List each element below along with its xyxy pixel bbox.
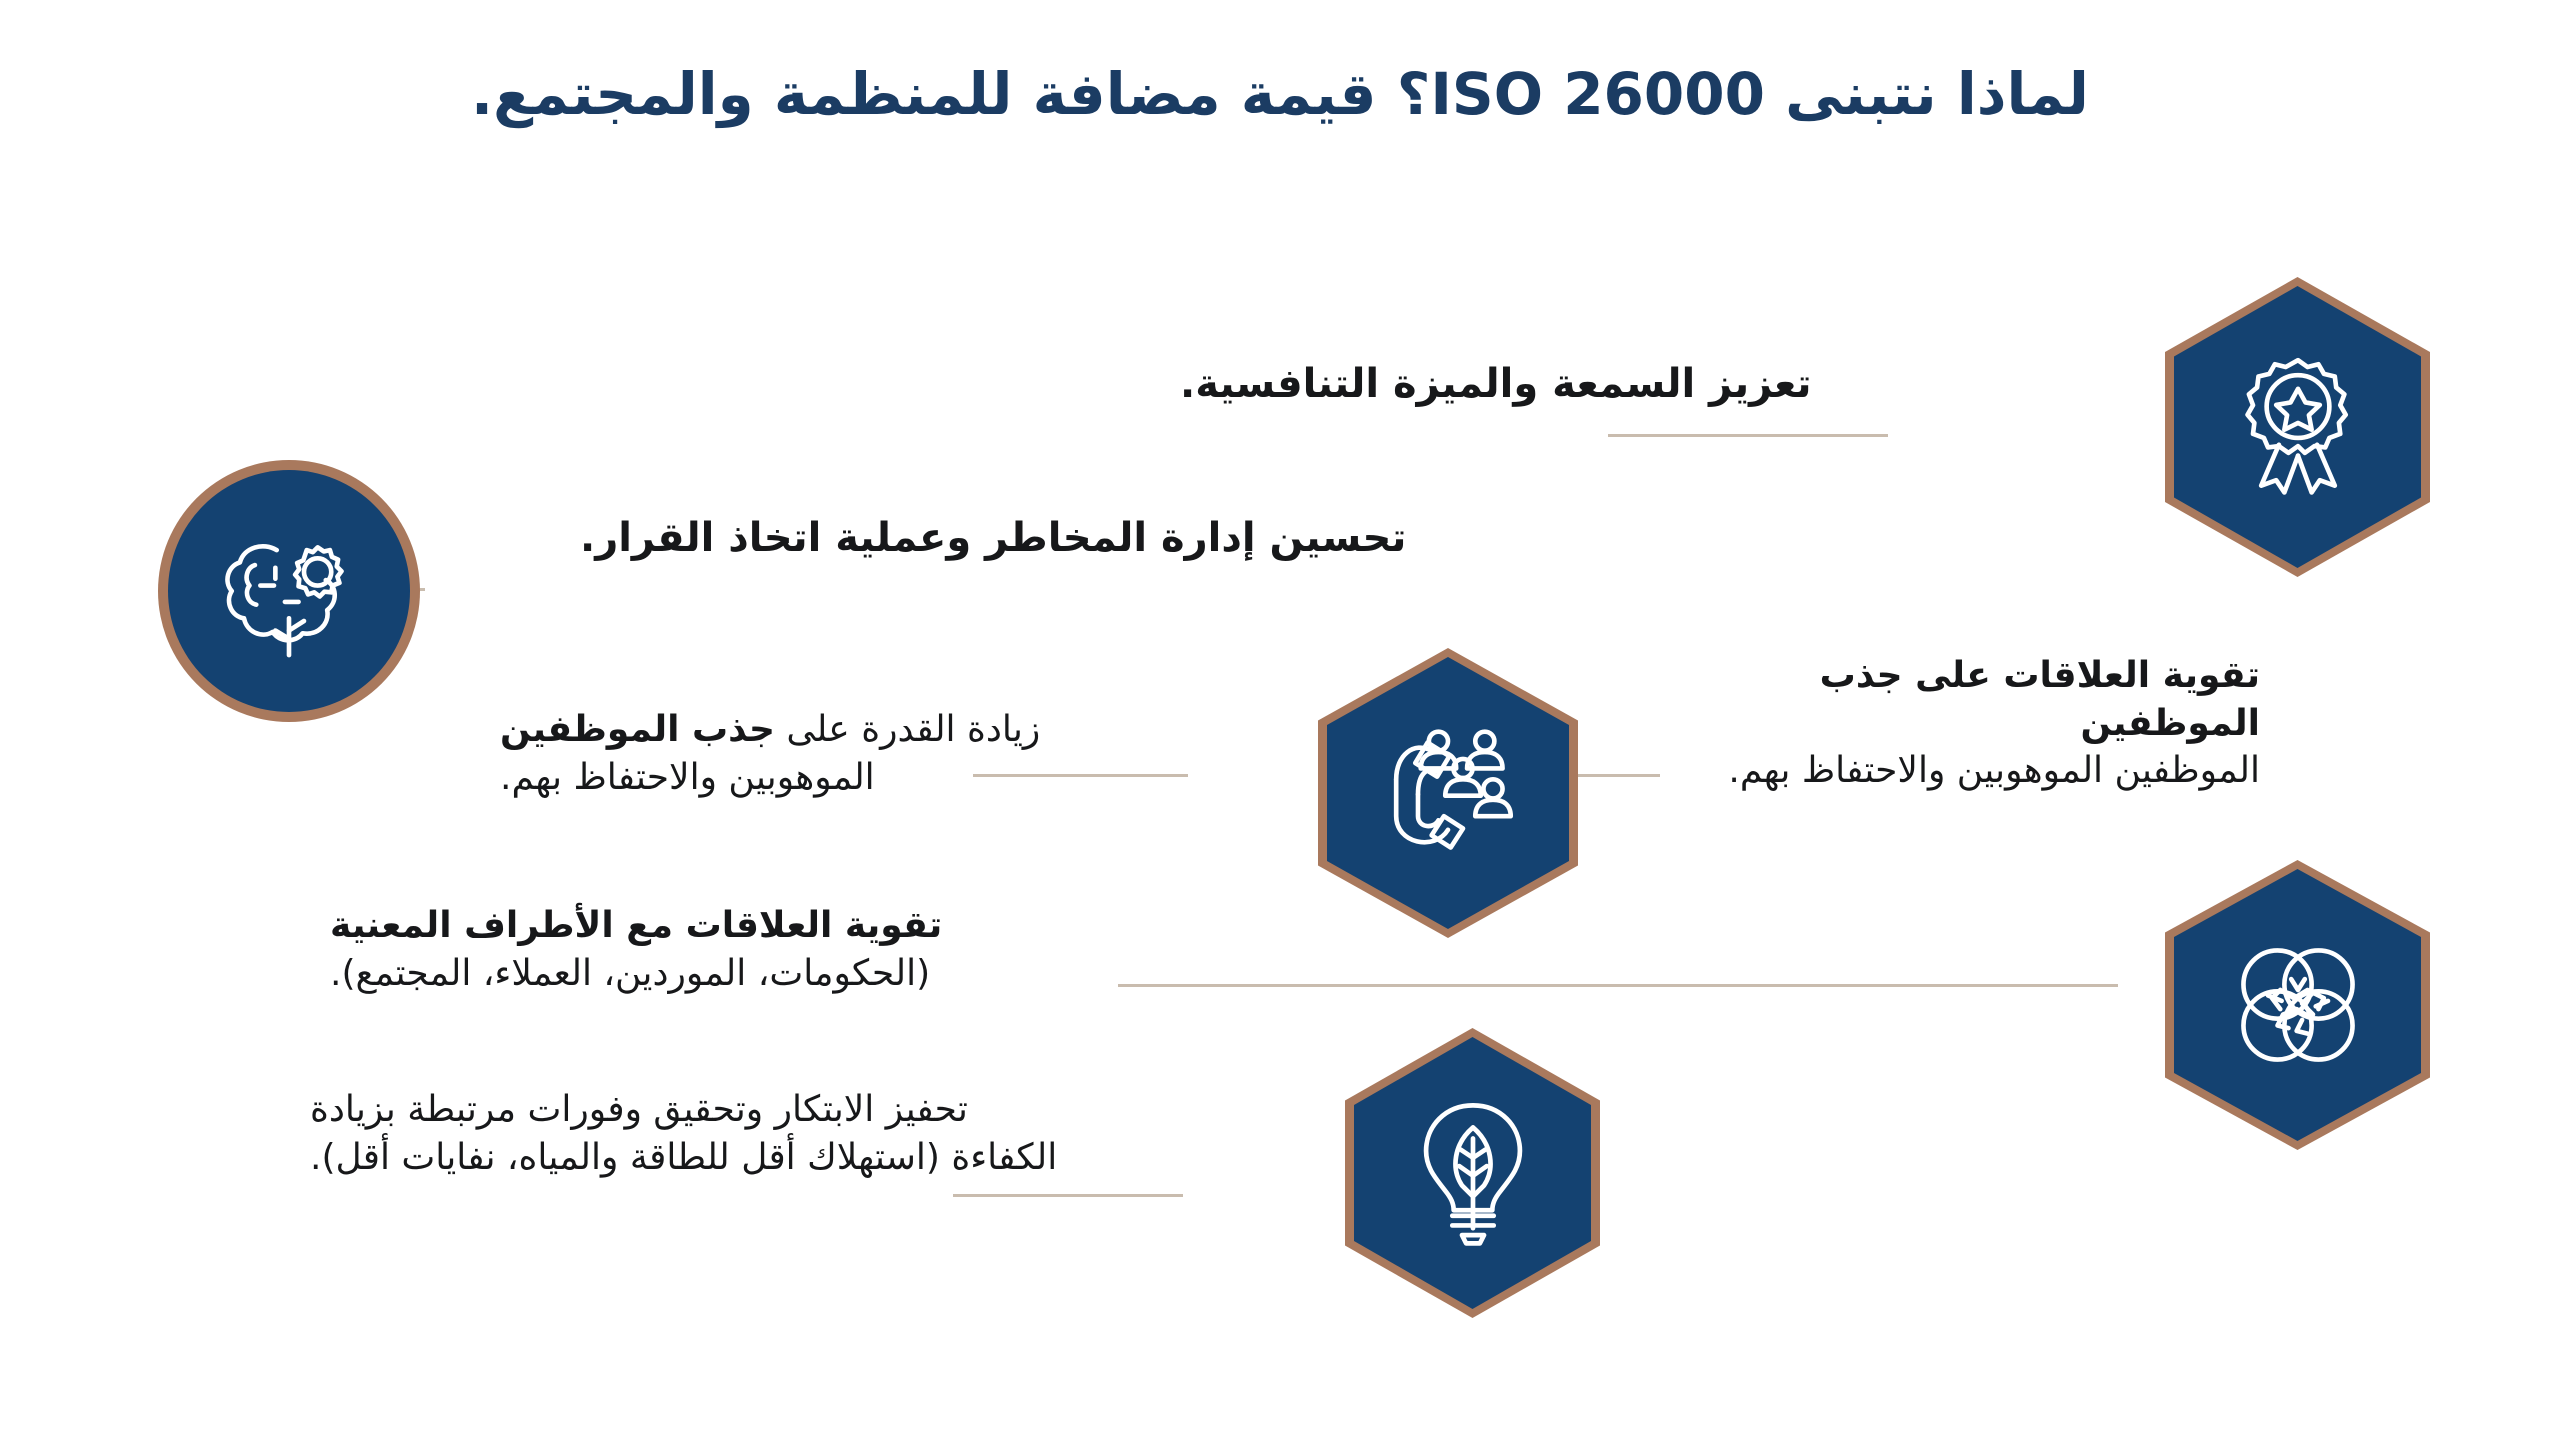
badge-award[interactable]	[2165, 277, 2430, 577]
callout-reputation-line1: تعزيز السمعة والميزة التنافسية.	[1180, 358, 1900, 411]
callout-stakeholders: تقوية العلاقات مع الأطراف المعنية (الحكو…	[330, 902, 1130, 997]
infographic-canvas: لماذا نتبنى ISO 26000؟ قيمة مضافة للمنظم…	[0, 0, 2560, 1429]
badge-brain-gear[interactable]	[158, 460, 420, 722]
callout-talent-right-line1: تقوية العلاقات على جذب الموظفين	[1660, 652, 2260, 747]
callout-stakeholders-line1: تقوية العلاقات مع الأطراف المعنية	[330, 902, 1130, 950]
partnership-hands-icon	[2223, 930, 2373, 1080]
badge-partnership-hands[interactable]	[2165, 860, 2430, 1150]
callout-innovation-line2: الكفاءة (استهلاك أقل للطاقة والمياه، نفا…	[310, 1134, 1130, 1182]
connector-line-stakeholders	[1118, 984, 2118, 987]
callout-innovation-line1: تحفيز الابتكار وتحقيق وفورات مرتبطة بزيا…	[310, 1086, 1130, 1134]
callout-reputation: تعزيز السمعة والميزة التنافسية.	[1180, 358, 1900, 411]
callout-innovation: تحفيز الابتكار وتحقيق وفورات مرتبطة بزيا…	[310, 1086, 1130, 1181]
badge-magnet-people[interactable]	[1318, 648, 1578, 938]
callout-talent-left-line1-normal: زيادة القدرة على	[775, 709, 1040, 750]
callout-talent-right-line2: الموظفين الموهوبين والاحتفاظ بهم.	[1660, 747, 2260, 795]
callout-stakeholders-line2: (الحكومات، الموردين، العملاء، المجتمع).	[330, 950, 1130, 998]
badge-lightbulb-leaf[interactable]	[1345, 1028, 1600, 1318]
callout-talent-left-line1-bold: جذب الموظفين	[500, 709, 775, 750]
magnet-people-icon	[1373, 718, 1523, 868]
brain-gear-icon	[214, 521, 364, 661]
callout-talent-left-line2: الموهوبين والاحتفاظ بهم.	[500, 754, 1200, 802]
callout-talent-left: زيادة القدرة على جذب الموظفين الموهوبين …	[500, 706, 1200, 801]
connector-line-innovation	[953, 1194, 1183, 1197]
callout-risk: تحسين إدارة المخاطر وعملية اتخاذ القرار.	[580, 512, 1420, 565]
page-title: لماذا نتبنى ISO 26000؟ قيمة مضافة للمنظم…	[0, 58, 2560, 131]
callout-risk-line1: تحسين إدارة المخاطر وعملية اتخاذ القرار.	[580, 512, 1420, 565]
award-ribbon-icon	[2228, 352, 2368, 502]
callout-talent-right: تقوية العلاقات على جذب الموظفين الموظفين…	[1660, 652, 2260, 795]
connector-line-reputation	[1608, 434, 1888, 437]
lightbulb-leaf-icon	[1404, 1097, 1542, 1249]
